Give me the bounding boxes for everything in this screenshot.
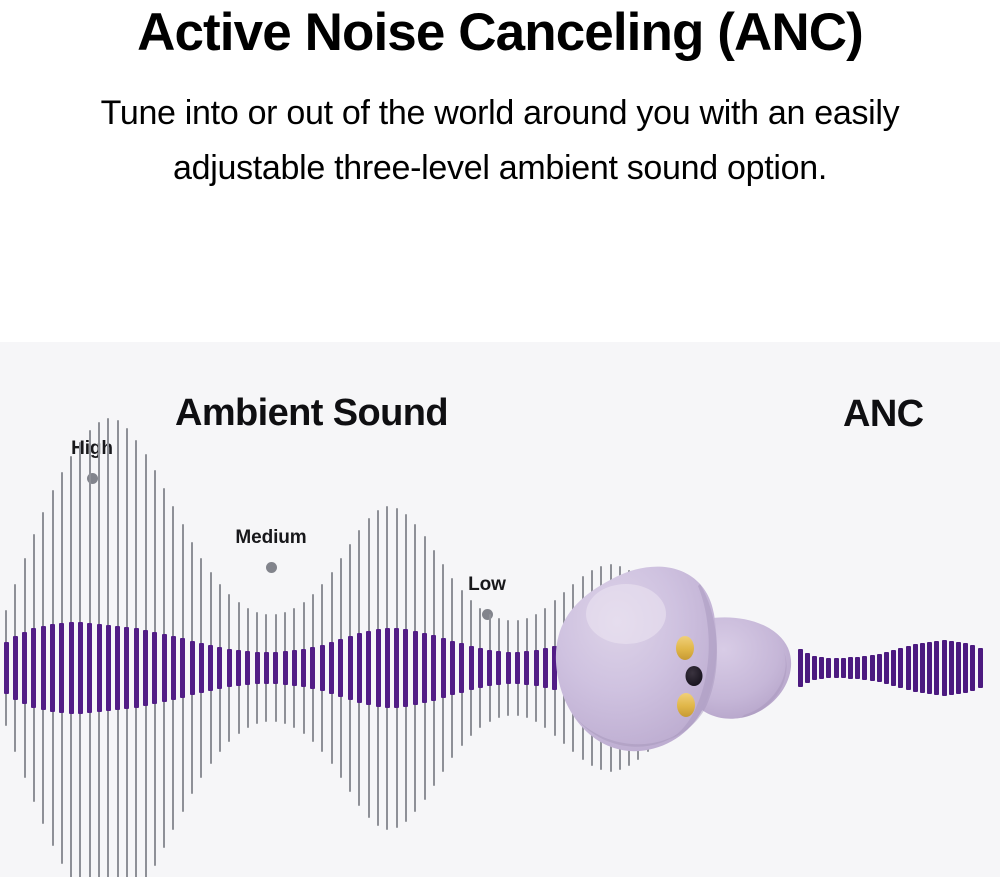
waveform-bar-inner <box>69 622 74 714</box>
waveform-bar-inner <box>143 630 148 706</box>
page-subtitle: Tune into or out of the world around you… <box>0 86 1000 196</box>
waveform-bar-inner <box>227 649 232 687</box>
waveform-bar-inner <box>310 647 315 689</box>
waveform-bar-inner <box>441 638 446 698</box>
waveform-bar-inner <box>459 643 464 693</box>
waveform-bar-inner <box>376 629 381 707</box>
waveform-bar-inner <box>329 642 334 694</box>
waveform-bar-inner <box>283 651 288 685</box>
waveform-bar-inner <box>208 645 213 691</box>
waveform-bar-anc <box>927 642 932 694</box>
page-title: Active Noise Canceling (ANC) <box>0 2 1000 64</box>
waveform-bar-inner <box>366 631 371 705</box>
waveform-bar-inner <box>31 628 36 708</box>
hero-header: Active Noise Canceling (ANC) Tune into o… <box>0 0 1000 342</box>
waveform-bar-inner <box>13 636 18 700</box>
waveform-bar-inner <box>162 634 167 702</box>
waveform-bar-anc <box>906 646 911 690</box>
waveform-bar-inner <box>469 646 474 690</box>
waveform-bar-inner <box>180 638 185 698</box>
anc-illustration-panel: Ambient Sound ANC High Medium Low <box>0 342 1000 877</box>
earbud-contact-top <box>676 636 694 660</box>
waveform-bar-inner <box>524 651 529 685</box>
waveform-bar-inner <box>320 645 325 691</box>
waveform-bar-anc <box>870 655 875 681</box>
waveform-bar-inner <box>403 629 408 707</box>
waveform-bar-inner <box>199 643 204 693</box>
waveform-bar-inner <box>124 627 129 709</box>
waveform-bar-inner <box>348 636 353 700</box>
waveform-bar-inner <box>515 652 520 684</box>
waveform-bar-inner <box>487 650 492 686</box>
waveform-bar-inner <box>50 624 55 712</box>
waveform-bar-inner <box>22 632 27 704</box>
waveform-bar-inner <box>245 651 250 685</box>
waveform-bar-inner <box>134 628 139 708</box>
waveform-bar-anc <box>877 654 882 682</box>
waveform-bar-inner <box>413 631 418 705</box>
waveform-bar-anc <box>834 658 839 678</box>
waveform-bar-inner <box>236 650 241 686</box>
waveform-bar-inner <box>301 649 306 687</box>
waveform-bar-inner <box>338 639 343 697</box>
waveform-bar-inner <box>478 648 483 688</box>
waveform-bar-inner <box>78 622 83 714</box>
waveform-bar-inner <box>106 625 111 711</box>
waveform-bar-anc <box>913 644 918 692</box>
waveform-bar-inner <box>431 635 436 701</box>
waveform-bar-inner <box>534 650 539 686</box>
waveform-bar-inner <box>171 636 176 700</box>
earbud-highlight <box>586 584 666 644</box>
waveform-bar-inner <box>41 626 46 710</box>
waveform-bar-anc <box>920 643 925 693</box>
waveform-bar-anc <box>841 658 846 678</box>
waveform-bar-anc <box>970 645 975 691</box>
waveform-bar-anc <box>978 648 983 688</box>
waveform-bar-inner <box>422 633 427 703</box>
waveform-bar-inner <box>255 652 260 684</box>
waveform-bar-anc <box>826 658 831 678</box>
waveform-bar-inner <box>190 641 195 695</box>
waveform-bar-inner <box>496 651 501 685</box>
waveform-bar-inner <box>506 652 511 684</box>
waveform-bar-inner <box>115 626 120 710</box>
waveform-bar-anc <box>855 657 860 679</box>
waveform-bar-anc <box>963 643 968 693</box>
waveform-bar-inner <box>97 624 102 712</box>
waveform-bar-anc <box>891 650 896 686</box>
waveform-bar-anc <box>934 641 939 695</box>
waveform-bar-inner <box>273 652 278 684</box>
galaxy-buds-earbud-image <box>548 552 800 762</box>
waveform-bar-inner <box>59 623 64 713</box>
waveform-bar-inner <box>4 642 9 694</box>
waveform-bar-anc <box>848 657 853 679</box>
waveform-bar-anc <box>862 656 867 680</box>
waveform-bar-inner <box>264 652 269 684</box>
waveform-bar-inner <box>152 632 157 704</box>
earbud-microphone-hole <box>686 666 703 686</box>
waveform-bar-inner <box>385 628 390 708</box>
waveform-bar-inner <box>217 647 222 689</box>
waveform-bar-anc <box>884 652 889 684</box>
earbud-contact-bottom <box>677 693 695 717</box>
waveform-bar-anc <box>812 656 817 680</box>
waveform-bar-inner <box>394 628 399 708</box>
waveform-bar-inner <box>357 633 362 703</box>
sound-waveform <box>0 342 1000 877</box>
waveform-bar-inner <box>292 650 297 686</box>
waveform-bar-anc <box>898 648 903 688</box>
waveform-bar-anc <box>805 653 810 683</box>
waveform-bar-anc <box>956 642 961 694</box>
waveform-bar-anc <box>942 640 947 696</box>
waveform-bar-inner <box>87 623 92 713</box>
waveform-bar-inner <box>450 641 455 695</box>
waveform-bar-anc <box>819 657 824 679</box>
waveform-bar-anc <box>949 641 954 695</box>
